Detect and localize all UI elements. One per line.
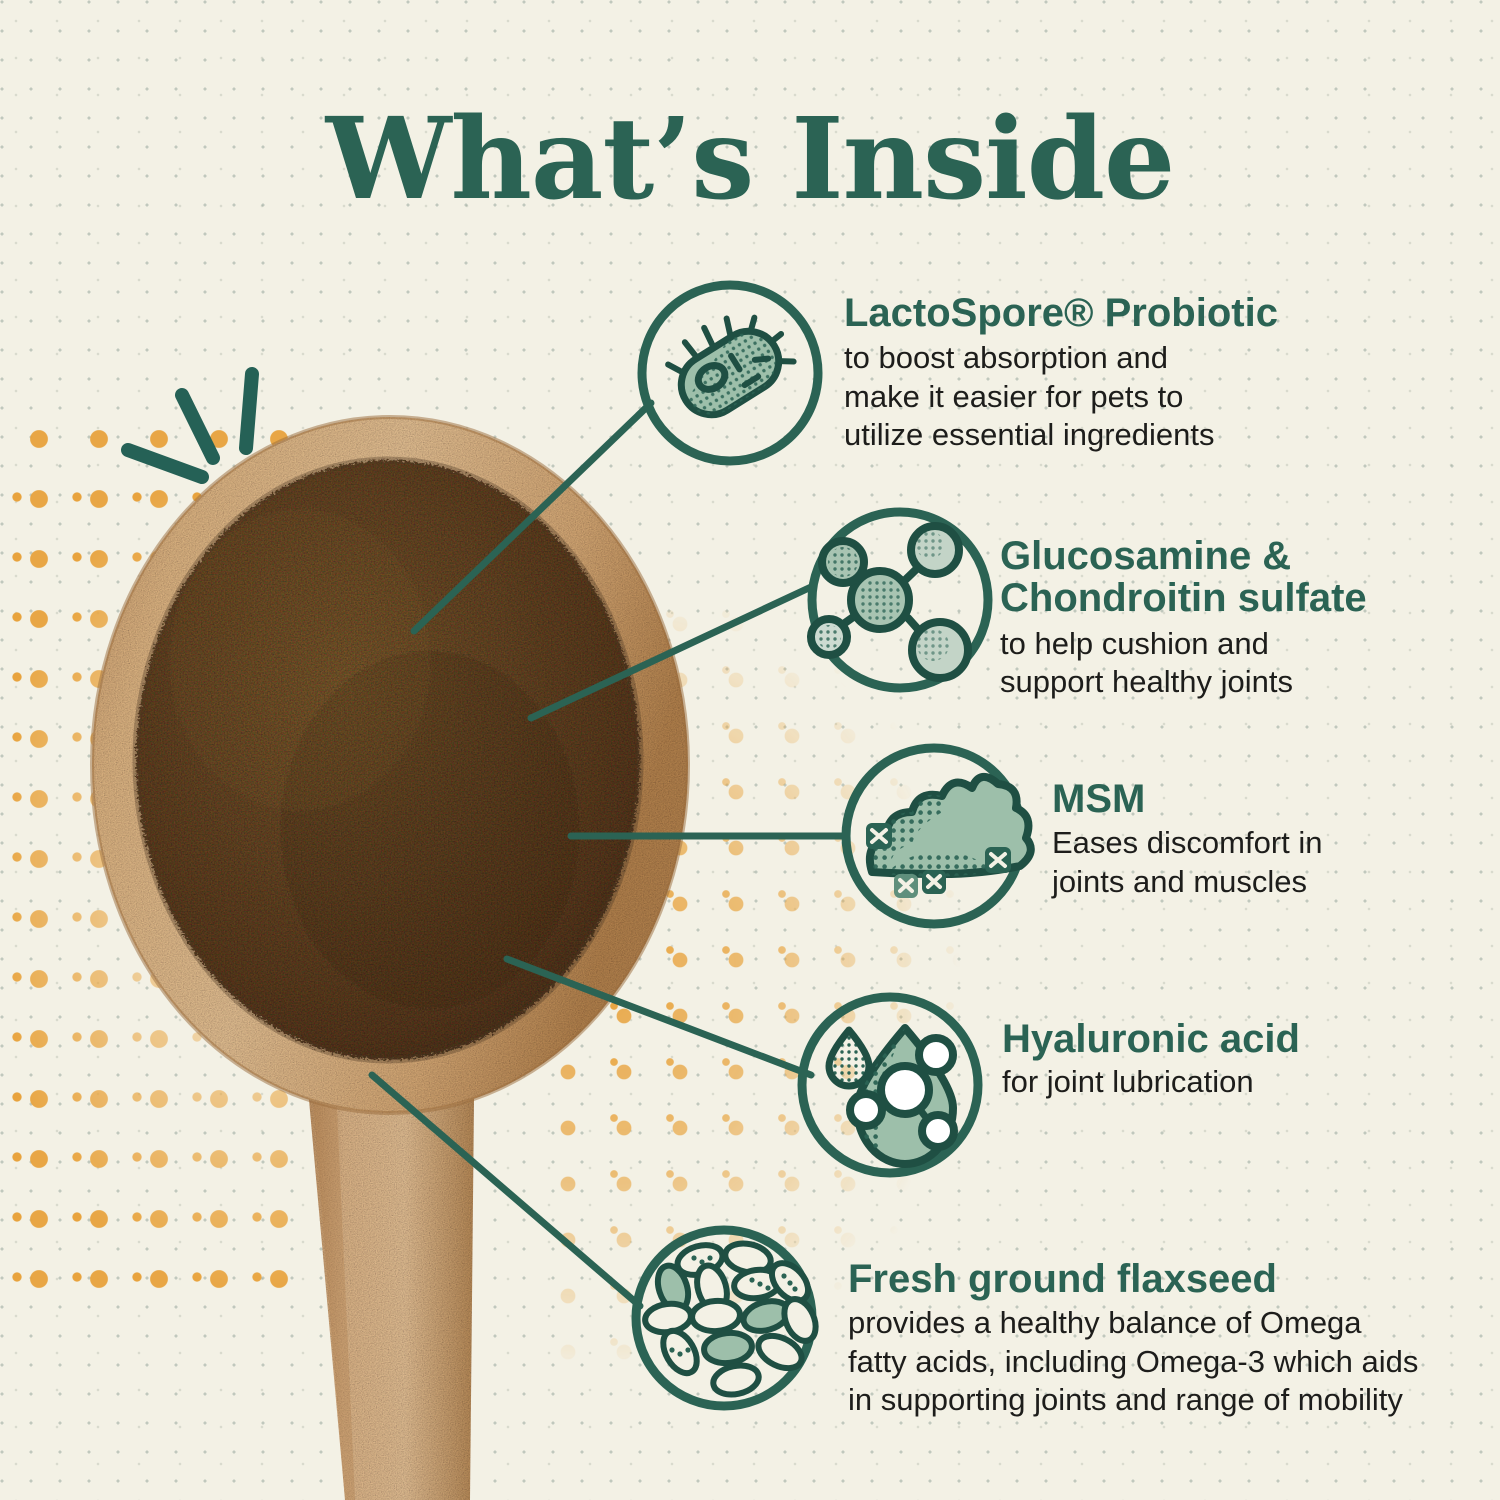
callout-lactospore: LactoSpore® Probiotic to boost absorptio…	[844, 292, 1314, 455]
body-line: fatty acids, including Omega-3 which aid…	[848, 1343, 1418, 1381]
callout-body: for joint lubrication	[1002, 1063, 1342, 1101]
body-line: to help cushion and	[1000, 625, 1400, 663]
body-line: support healthy joints	[1000, 663, 1400, 701]
sparkle-dashes-icon	[110, 360, 310, 490]
callout-heading: Glucosamine & Chondroitin sulfate	[1000, 535, 1400, 620]
callout-body: to help cushion and support healthy join…	[1000, 625, 1400, 702]
body-line: utilize essential ingredients	[844, 416, 1314, 454]
callout-body: Eases discomfort in joints and muscles	[1052, 824, 1382, 901]
page-title: What’s Inside	[0, 104, 1500, 216]
callout-heading: MSM	[1052, 778, 1382, 820]
spoon-photo	[0, 360, 780, 1500]
callout-glucosamine: Glucosamine & Chondroitin sulfate to hel…	[1000, 535, 1400, 702]
callout-heading: Fresh ground flaxseed	[848, 1258, 1418, 1300]
callout-msm: MSM Eases discomfort in joints and muscl…	[1052, 778, 1382, 901]
callout-hyaluronic-acid: Hyaluronic acid for joint lubrication	[1002, 1018, 1342, 1102]
body-line: for joint lubrication	[1002, 1063, 1342, 1101]
infographic-canvas: What’s Inside LactoSpore® Probiotic to b…	[0, 0, 1500, 1500]
callout-heading: LactoSpore® Probiotic	[844, 292, 1314, 334]
callout-body: provides a healthy balance of Omega fatt…	[848, 1304, 1418, 1419]
body-line: Eases discomfort in	[1052, 824, 1382, 862]
heading-line: Chondroitin sulfate	[1000, 577, 1400, 619]
body-line: in supporting joints and range of mobili…	[848, 1381, 1418, 1419]
callout-heading: Hyaluronic acid	[1002, 1018, 1342, 1060]
body-line: provides a healthy balance of Omega	[848, 1304, 1418, 1342]
heading-line: Glucosamine &	[1000, 535, 1400, 577]
body-line: joints and muscles	[1052, 863, 1382, 901]
body-line: make it easier for pets to	[844, 378, 1314, 416]
callout-body: to boost absorption and make it easier f…	[844, 339, 1314, 454]
callout-flaxseed: Fresh ground flaxseed provides a healthy…	[848, 1258, 1418, 1420]
body-line: to boost absorption and	[844, 339, 1314, 377]
